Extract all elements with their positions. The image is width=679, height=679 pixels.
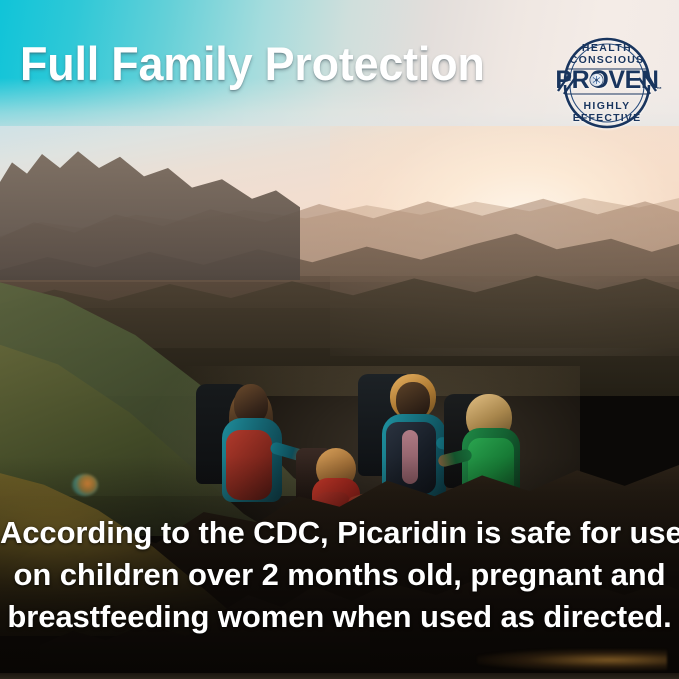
trademark-symbol: ™ xyxy=(656,87,662,93)
badge-bottom-line-2: EFFECTIVE xyxy=(573,112,642,124)
product-marketing-image: Full Family Protection xyxy=(0,0,679,679)
caption-line-1: According to the CDC, Picaridin is safe … xyxy=(0,512,679,554)
bottom-warm-glow xyxy=(477,649,667,671)
mosquito-icon xyxy=(590,73,603,86)
caption-block: According to the CDC, Picaridin is safe … xyxy=(0,512,679,638)
caption-line-2: on children over 2 months old, pregnant … xyxy=(0,554,679,596)
page-title: Full Family Protection xyxy=(20,36,485,92)
badge-bottom-line-1: HIGHLY xyxy=(583,100,630,112)
bottom-strip xyxy=(0,673,679,679)
badge-top-line-2: CONSCIOUS xyxy=(570,54,644,66)
badge-top-line-1: HEALTH xyxy=(582,42,632,54)
badge-wordmark: PROVEN xyxy=(555,66,658,94)
proven-badge: HEALTH CONSCIOUS PROVEN HIGHLY xyxy=(549,25,665,141)
caption-line-3: breastfeeding women when used as directe… xyxy=(0,596,679,638)
